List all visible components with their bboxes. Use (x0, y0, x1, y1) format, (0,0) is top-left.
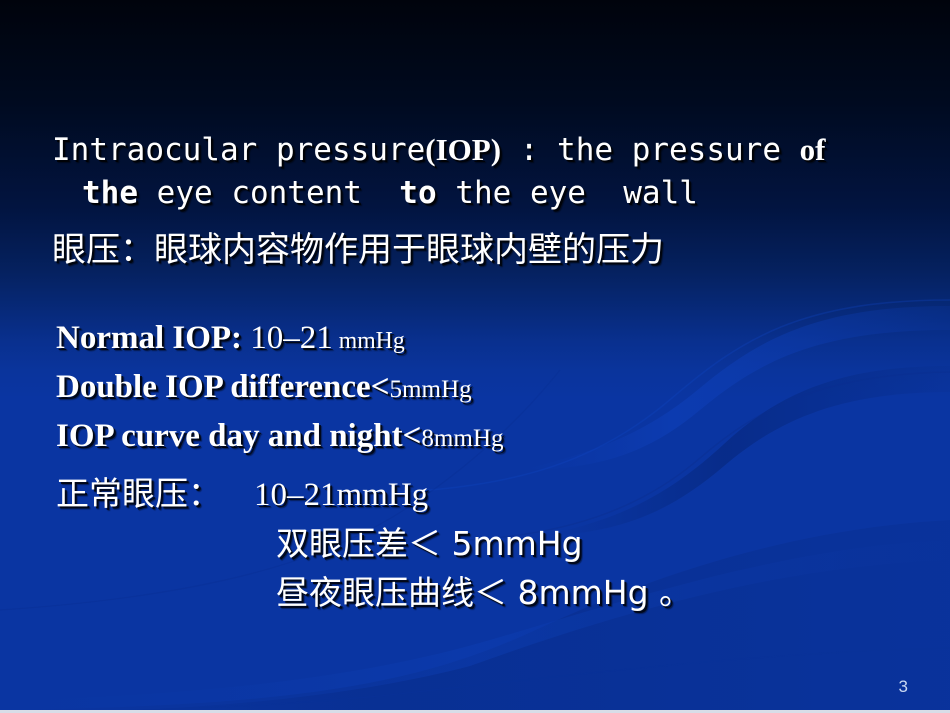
definition-word-of: of (800, 132, 826, 167)
definition-line-1: Intraocular pressure(IOP) : the pressure… (52, 132, 826, 168)
normal-iop-line: Normal IOP: 10–21 mmHg (56, 320, 405, 357)
double-iop-operator: < (371, 369, 390, 405)
slide-content: Intraocular pressure(IOP) : the pressure… (0, 0, 950, 713)
presentation-slide: Intraocular pressure(IOP) : the pressure… (0, 0, 950, 713)
cn-normal-iop-label: 正常眼压： (56, 474, 221, 513)
definition-text-3: the eye wall (437, 175, 698, 211)
definition-line-chinese: 眼压：眼球内容物作用于眼球内壁的压力 (52, 222, 664, 271)
iop-curve-operator: < (403, 418, 422, 454)
definition-text-2: eye content (138, 175, 399, 211)
definition-word-to: to (399, 175, 436, 211)
double-iop-line: Double IOP difference<5mmHg (56, 369, 472, 406)
cn-normal-iop-line: 正常眼压： 10–21mmHg (56, 467, 428, 515)
iop-curve-label: IOP curve day and night (56, 418, 403, 454)
cn-double-iop-line: 双眼压差＜ 5mmHg (276, 517, 583, 565)
normal-iop-label: Normal IOP: (56, 320, 242, 356)
cn-normal-iop-value: 10–21mmHg (221, 477, 428, 513)
normal-iop-unit: mmHg (333, 328, 405, 354)
iop-curve-value: 8mmHg (421, 425, 503, 452)
normal-iop-value: 10–21 (242, 320, 333, 356)
definition-line-2: the eye content to the eye wall (82, 175, 698, 211)
double-iop-label: Double IOP difference (56, 369, 371, 405)
definition-word-the: the (82, 175, 138, 211)
double-iop-value: 5mmHg (390, 376, 472, 403)
iop-curve-line: IOP curve day and night<8mmHg (56, 418, 504, 455)
definition-abbreviation: (IOP) (425, 132, 501, 167)
cn-iop-curve-line: 昼夜眼压曲线＜ 8mmHg 。 (276, 566, 692, 614)
definition-text-1: : the pressure (501, 132, 800, 168)
page-number: 3 (899, 677, 908, 697)
definition-term: Intraocular pressure (52, 132, 425, 168)
